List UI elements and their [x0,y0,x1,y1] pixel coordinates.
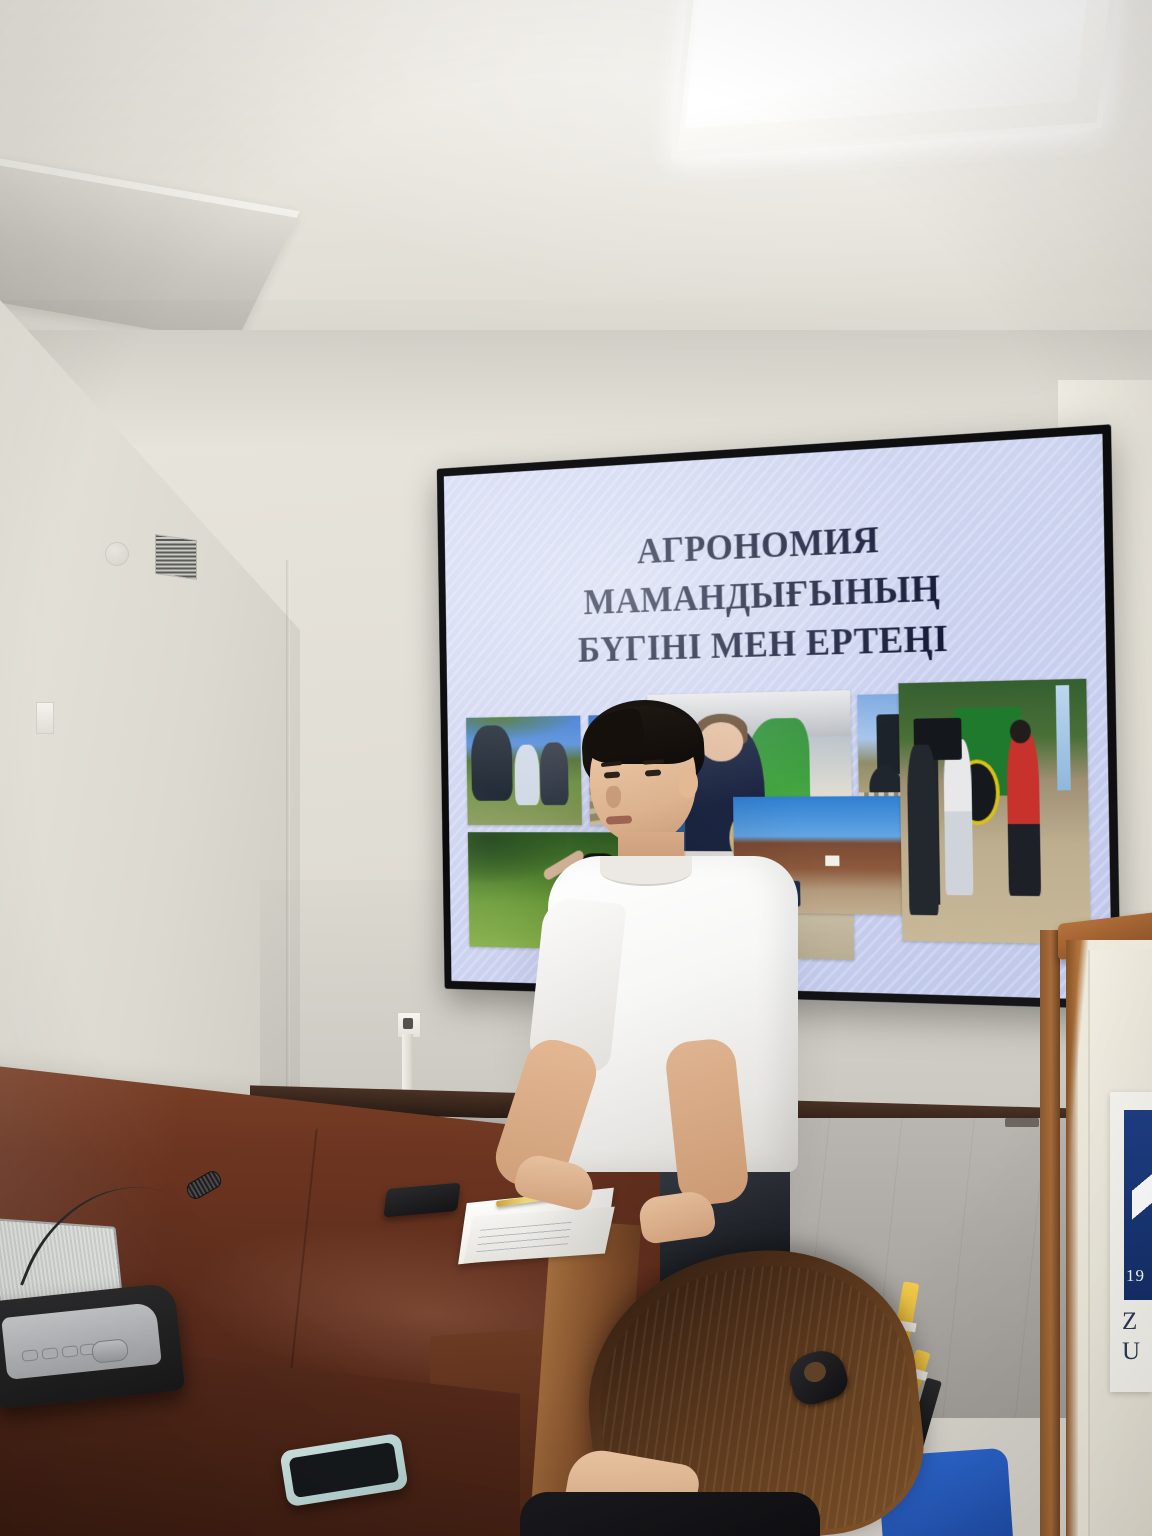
microphone-button-2[interactable] [41,1347,58,1360]
presenter-collar [600,856,692,886]
presenter-nose [606,786,621,808]
presenter-eye-right [645,769,661,776]
podium-rail [1066,940,1078,1536]
presenter-eye-left [604,771,620,778]
presenter-mouth [606,815,632,824]
power-socket-hole [403,1018,413,1029]
wooden-column [1040,930,1060,1536]
floor-vent-icon [1005,1118,1039,1127]
poster-year: 19 [1126,1266,1152,1288]
microphone-button-1[interactable] [21,1349,38,1362]
collage-photo-tv-interview-at-tractor [898,679,1090,944]
poster-line-2: U [1122,1338,1152,1364]
seated-woman-shoulder [520,1492,820,1536]
photo-scene: АГРОНОМИЯ МАМАНДЫҒЫНЫҢ БҮГІНІ МЕН ЕРТЕҢІ [0,0,1152,1536]
wall-box-icon [36,702,54,734]
wall-cap-icon [105,542,129,566]
poster-line-1: Z [1122,1308,1152,1334]
slide-title: АГРОНОМИЯ МАМАНДЫҒЫНЫҢ БҮГІНІ МЕН ЕРТЕҢІ [480,504,1062,676]
presenter-ear [678,768,698,798]
ventilation-grille-icon [155,534,197,580]
poster-logo-glyph-icon [1132,1160,1152,1246]
microphone-button-3[interactable] [61,1345,78,1358]
